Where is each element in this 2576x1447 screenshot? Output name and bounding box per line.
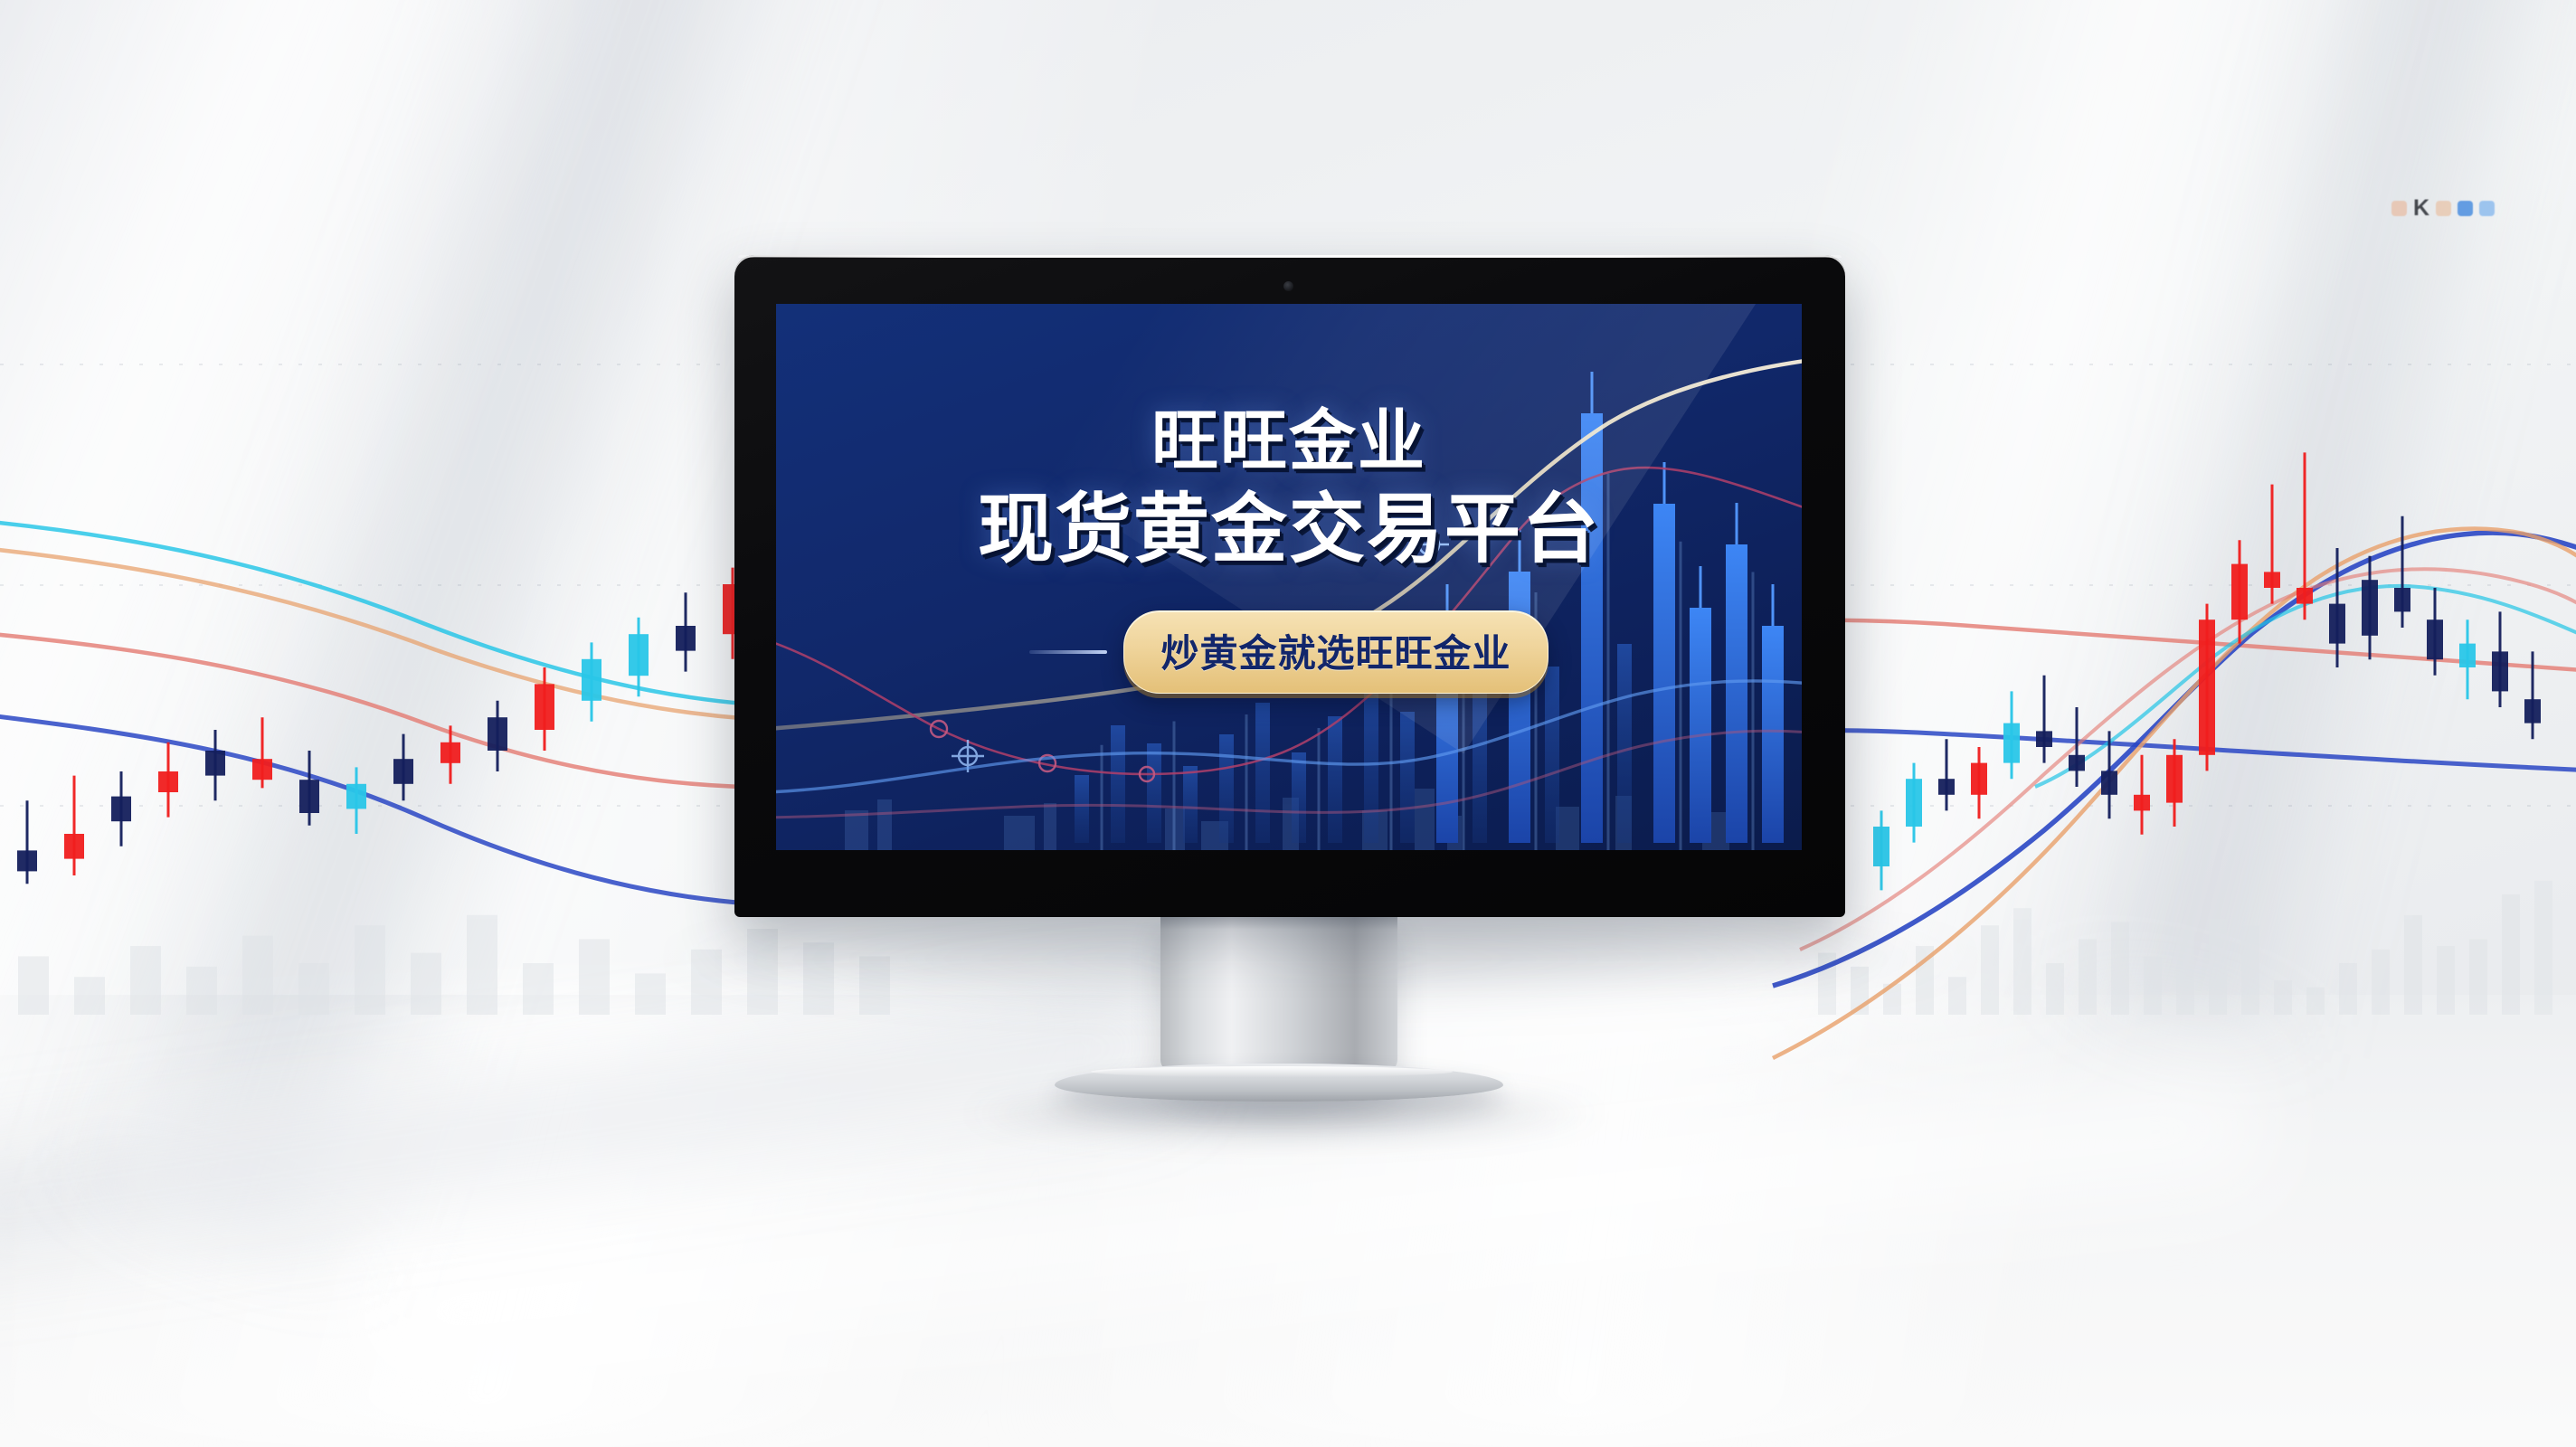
stand-neck-shading	[1160, 915, 1397, 930]
monitor-screen[interactable]: 旺旺金业 现货黄金交易平台 炒黄金就选旺旺金业	[776, 304, 1802, 850]
legend-swatch	[2391, 201, 2407, 216]
legend-swatch	[2436, 201, 2451, 216]
chart-legend: K	[2391, 195, 2495, 222]
legend-swatch	[2479, 201, 2495, 216]
screen-chart-graphic	[776, 304, 1802, 850]
legend-swatch	[2458, 201, 2473, 216]
stand-base-highlight	[1091, 1066, 1453, 1077]
webcam-icon	[1283, 281, 1293, 291]
monitor-stand-base	[1055, 1064, 1503, 1102]
bezel-top-highlight	[738, 255, 1842, 258]
monitor-stand-neck	[1160, 915, 1397, 1083]
scene-root: K	[0, 0, 2576, 1447]
monitor[interactable]: 旺旺金业 现货黄金交易平台 炒黄金就选旺旺金业	[734, 255, 1845, 917]
legend-label: K	[2413, 195, 2429, 222]
